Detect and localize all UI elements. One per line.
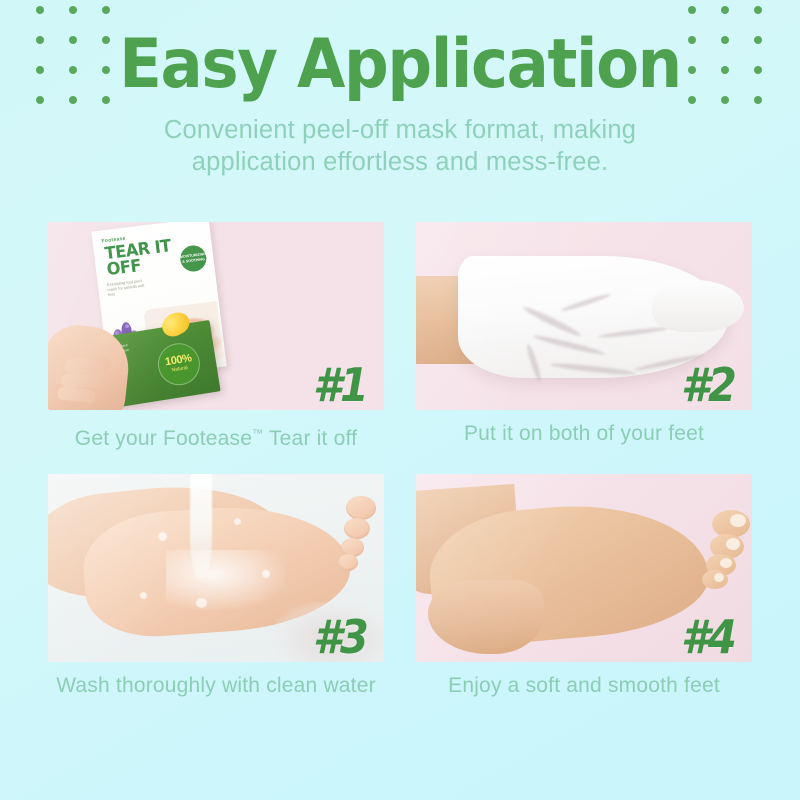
step-3: #3 Wash thoroughly with clean water	[48, 474, 384, 699]
fabric-wrinkle	[550, 362, 636, 377]
step-1: Footease TEAR IT OFF Exfoliating foot pe…	[48, 222, 384, 452]
step-2-photo: #2	[416, 222, 752, 410]
fabric-wrinkle	[522, 304, 583, 338]
step-4: #4 Enjoy a soft and smooth feet	[416, 474, 752, 699]
toe	[338, 554, 358, 571]
finger	[57, 386, 96, 403]
step-1-photo: Footease TEAR IT OFF Exfoliating foot pe…	[48, 222, 384, 410]
water-droplet	[234, 518, 241, 525]
trademark-symbol: ™	[252, 428, 263, 440]
water-droplet	[262, 570, 270, 578]
steps-grid: Footease TEAR IT OFF Exfoliating foot pe…	[0, 222, 800, 699]
toe	[346, 496, 376, 520]
toe	[344, 518, 370, 539]
dot	[36, 6, 44, 14]
toenail	[726, 538, 740, 550]
step-2-number: #2	[681, 362, 735, 408]
step-1-caption-tail: Tear it off	[263, 427, 357, 450]
toes-group	[282, 494, 378, 580]
toes-group	[644, 510, 750, 594]
page-subtitle: Convenient peel-off mask format, making …	[100, 114, 700, 178]
water-droplet	[158, 532, 167, 541]
fabric-wrinkle	[598, 326, 668, 339]
heel	[428, 580, 544, 654]
step-1-caption: Get your Footease™ Tear it off	[48, 421, 384, 452]
finger	[64, 355, 111, 375]
mask-bootie-toe	[652, 280, 744, 332]
toenail	[720, 558, 732, 568]
step-4-photo: #4	[416, 474, 752, 662]
step-3-photo: #3	[48, 474, 384, 662]
package-body-text: Exfoliating foot peel mask for smooth so…	[107, 277, 149, 297]
infographic-poster: Easy Application Convenient peel-off mas…	[0, 0, 800, 800]
dot	[754, 6, 762, 14]
fabric-wrinkle	[525, 343, 543, 383]
step-3-number: #3	[313, 614, 367, 660]
step-1-caption-text: Get your Footease	[75, 427, 252, 450]
fabric-wrinkle	[561, 292, 612, 313]
water-splash	[166, 550, 286, 610]
toenail	[714, 573, 724, 582]
fabric-wrinkle	[532, 333, 605, 357]
page-title: Easy Application	[32, 26, 768, 104]
dot	[102, 6, 110, 14]
water-droplet	[196, 598, 207, 608]
step-3-caption: Wash thoroughly with clean water	[48, 673, 384, 699]
dot	[69, 6, 77, 14]
dot	[721, 6, 729, 14]
step-2-caption: Put it on both of your feet	[416, 421, 752, 447]
dot	[688, 6, 696, 14]
natural-seal-word: Natural	[171, 365, 188, 374]
finger	[61, 374, 103, 388]
toenail	[730, 514, 746, 527]
natural-seal-badge: 100% Natural	[155, 340, 203, 388]
step-1-number: #1	[313, 362, 367, 408]
step-2: #2 Put it on both of your feet	[416, 222, 752, 452]
water-droplet	[140, 592, 147, 599]
step-4-number: #4	[681, 614, 735, 660]
title-row: Easy Application	[0, 26, 800, 106]
step-4-caption: Enjoy a soft and smooth feet	[416, 673, 752, 699]
header: Easy Application Convenient peel-off mas…	[0, 0, 800, 178]
